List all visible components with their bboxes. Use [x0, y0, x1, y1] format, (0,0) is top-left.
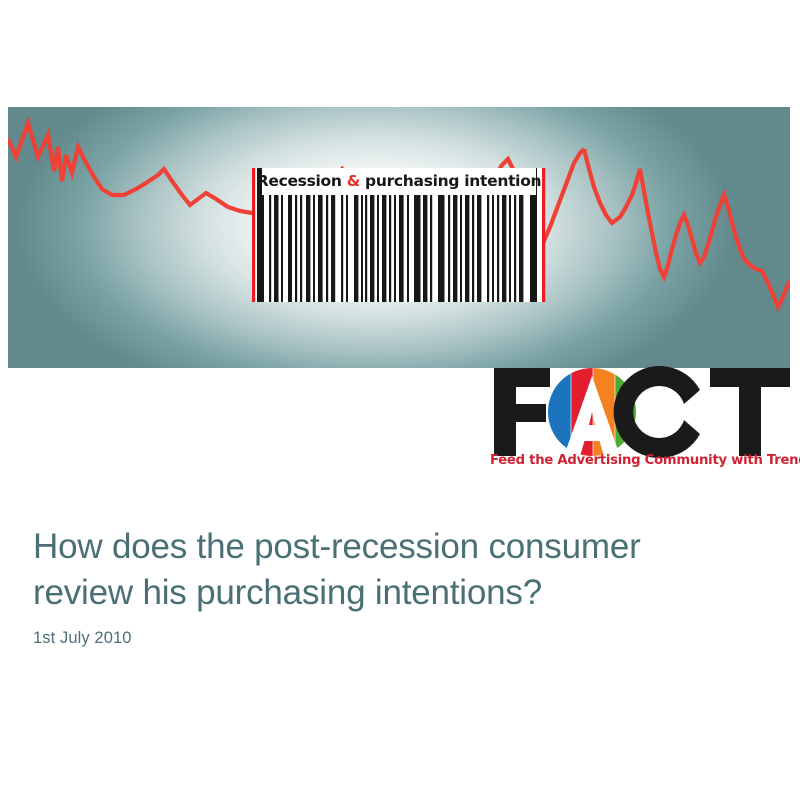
slide-root: { "slide": { "title_line_1": "How does t… [0, 0, 800, 800]
logo-letter-t [710, 368, 790, 456]
barcode-caption-prefix: Recession [257, 172, 347, 190]
barcode-caption-suffix: purchasing intention [360, 172, 541, 190]
barcode-caption: Recession & purchasing intention [262, 168, 536, 195]
barcode-caption-text: Recession & purchasing intention [257, 174, 542, 190]
logo-tagline: Feed the Advertising Community with Tren… [490, 454, 792, 467]
page-title-line-2: review his purchasing intentions? [33, 573, 542, 612]
trend-line-right [584, 149, 790, 307]
title-block: How does the post-recession consumer rev… [33, 524, 763, 648]
barcode-caption-ampersand: & [347, 172, 360, 190]
page-title: How does the post-recession consumer rev… [33, 524, 763, 615]
barcode-graphic: Recession & purchasing intention [248, 168, 550, 302]
logo-letter-f [494, 368, 550, 456]
fact-wordmark-icon [488, 366, 794, 458]
page-title-line-1: How does the post-recession consumer [33, 527, 641, 566]
presentation-date: 1st July 2010 [33, 629, 763, 648]
logo-letter-c [614, 366, 700, 458]
hero-banner: Recession & purchasing intention [8, 107, 790, 368]
fact-logo: Feed the Advertising Community with Tren… [488, 366, 794, 478]
